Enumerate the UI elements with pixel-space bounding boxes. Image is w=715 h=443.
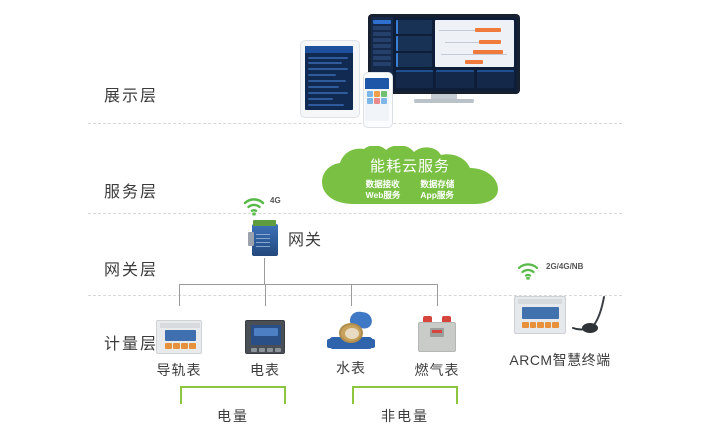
meter-electric: 电表: [222, 306, 308, 380]
monitor-stand-base: [414, 99, 474, 103]
cloud-item-data-storage: 数据存储: [420, 179, 454, 189]
meter-gas: 燃气表: [394, 306, 480, 380]
meter-din-rail: 导轨表: [136, 306, 222, 380]
meter-label-gas: 燃气表: [394, 360, 480, 380]
layer-label-gateway: 网关层: [104, 256, 194, 280]
gas-meter-icon: [394, 306, 480, 354]
bracket-electric: [180, 388, 286, 404]
architecture-diagram: 展示层 服务层 网关层 计量层: [0, 0, 715, 443]
gateway-device-icon: [248, 220, 280, 256]
cloud-item-web-service: Web服务: [366, 190, 401, 200]
smartphone-device: [363, 72, 393, 128]
cloud-title: 能耗云服务: [370, 155, 450, 176]
wire-drop-din-rail: [179, 284, 180, 306]
meter-label-water: 水表: [308, 358, 394, 378]
bracket-non-electric: [352, 388, 458, 404]
arcm-uplink-label: 2G/4G/NB: [546, 262, 583, 271]
cloud-item-data-receive: 数据接收: [366, 179, 401, 189]
cloud-column-left: 数据接收 Web服务: [366, 179, 401, 200]
dashboard-chart-row: [396, 70, 514, 88]
meter-water: 水表: [308, 304, 394, 378]
wire-drop-gas: [437, 284, 438, 306]
phone-screen: [365, 78, 389, 121]
bracket-label-electric: 电量: [180, 406, 286, 426]
meter-label-electric: 电表: [222, 360, 308, 380]
antenna-icon: [568, 294, 612, 336]
gateway-node: 4G 网关: [238, 196, 358, 258]
tablet-device: [300, 40, 360, 118]
cloud-column-right: 数据存储 App服务: [420, 179, 454, 200]
wifi-signal-icon: [242, 196, 266, 216]
wire-drop-water: [351, 284, 352, 306]
gateway-label: 网关: [288, 226, 322, 250]
meter-label-din-rail: 导轨表: [136, 360, 222, 380]
bracket-label-non-electric: 非电量: [352, 406, 458, 426]
din-rail-meter-icon: [136, 306, 222, 354]
arcm-device-icon: [500, 292, 620, 346]
dashboard-stat-cards: [396, 20, 432, 67]
water-meter-icon: [308, 304, 394, 352]
electric-meter-icon: [222, 306, 308, 354]
gateway-uplink-label: 4G: [270, 196, 281, 205]
wire-drop-electric: [265, 284, 266, 306]
dashboard-map-panel: [435, 20, 514, 67]
wifi-signal-icon: [516, 262, 540, 280]
layer-separator-display-service: [88, 123, 622, 124]
cloud-item-app-service: App服务: [420, 190, 454, 200]
tablet-screen: [305, 46, 353, 110]
layer-label-service: 服务层: [104, 178, 194, 202]
layer-label-display: 展示层: [104, 82, 194, 106]
display-layer-devices: [300, 12, 532, 120]
wire-gateway-drop: [264, 258, 265, 284]
arcm-label: ARCM智慧终端: [500, 350, 620, 370]
wire-bus: [179, 284, 437, 285]
